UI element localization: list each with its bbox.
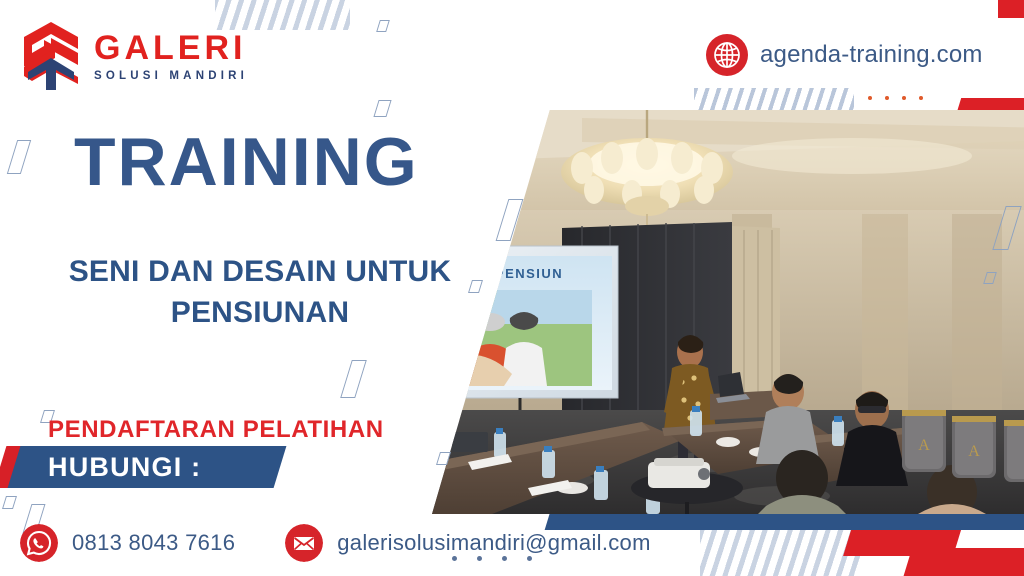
brand-wordmark: GALERI SOLUSI MANDIRI xyxy=(94,31,248,82)
brand-name: GALERI xyxy=(94,31,248,65)
svg-text:A: A xyxy=(968,443,980,460)
brand-logo[interactable]: GALERI SOLUSI MANDIRI xyxy=(20,20,248,92)
contact-list: 0813 8043 7616 galerisolusimandiri@gmail… xyxy=(20,524,651,562)
hatch-decor-bottom xyxy=(700,528,860,576)
globe-icon xyxy=(706,34,748,76)
registration-label: PENDAFTARAN PELATIHAN xyxy=(48,416,384,444)
parallelogram-decor xyxy=(7,140,31,174)
poster-canvas: MASA PENSIUN xyxy=(0,0,1024,576)
parallelogram-decor xyxy=(373,100,391,117)
parallelogram-decor xyxy=(2,496,17,509)
website-url: agenda-training.com xyxy=(760,41,983,69)
website-link[interactable]: agenda-training.com xyxy=(706,34,983,76)
brand-tagline: SOLUSI MANDIRI xyxy=(94,70,248,82)
email-icon[interactable] xyxy=(285,524,323,562)
email-address[interactable]: galerisolusimandiri@gmail.com xyxy=(337,530,650,556)
whatsapp-icon[interactable] xyxy=(20,524,58,562)
phone-number[interactable]: 0813 8043 7616 xyxy=(72,530,235,556)
parallelogram-decor xyxy=(340,360,367,398)
parallelogram-decor xyxy=(376,20,390,32)
contact-banner-label: HUBUNGI : xyxy=(48,452,201,483)
svg-text:A: A xyxy=(918,437,930,454)
page-title: TRAINING xyxy=(74,128,419,196)
red-parallelogram-bottom-edge xyxy=(900,548,1024,576)
page-subtitle: SENI DAN DESAIN UNTUK PENSIUNAN xyxy=(40,252,480,333)
galeri-logo-icon xyxy=(20,20,82,92)
training-photo-image: MASA PENSIUN xyxy=(432,110,1024,514)
red-block-top-right xyxy=(998,0,1024,18)
training-photo: MASA PENSIUN xyxy=(432,110,1024,514)
